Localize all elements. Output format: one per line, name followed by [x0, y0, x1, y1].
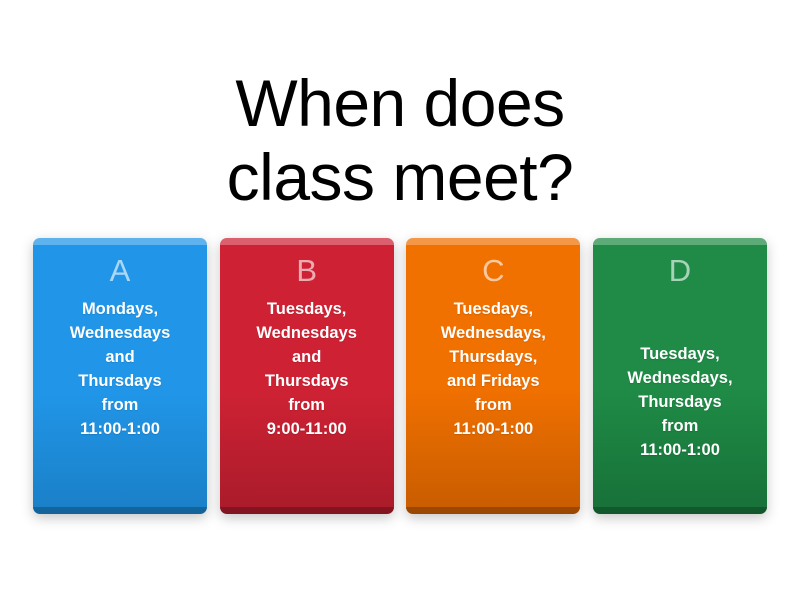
quiz-stage: When does class meet? A Mondays, Wednesd…: [0, 0, 800, 600]
answer-letter-c: C: [482, 253, 504, 289]
answer-card-d[interactable]: D Tuesdays, Wednesdays, Thursdays from 1…: [593, 238, 767, 514]
answer-letter-d: D: [669, 253, 691, 289]
answer-text-b: Tuesdays, Wednesdays and Thursdays from …: [256, 297, 357, 441]
answer-text-wrap-d: Tuesdays, Wednesdays, Thursdays from 11:…: [593, 289, 767, 514]
answer-letter-a: A: [110, 253, 131, 289]
answer-text-wrap-c: Tuesdays, Wednesdays, Thursdays, and Fri…: [406, 289, 580, 514]
answer-card-a[interactable]: A Mondays, Wednesdays and Thursdays from…: [33, 238, 207, 514]
page-title: When does class meet?: [0, 66, 800, 214]
answer-letter-b: B: [296, 253, 317, 289]
answer-text-c: Tuesdays, Wednesdays, Thursdays, and Fri…: [441, 297, 546, 441]
answer-text-a: Mondays, Wednesdays and Thursdays from 1…: [70, 297, 171, 441]
answer-text-wrap-b: Tuesdays, Wednesdays and Thursdays from …: [220, 289, 394, 514]
answer-card-b[interactable]: B Tuesdays, Wednesdays and Thursdays fro…: [220, 238, 394, 514]
answer-text-d: Tuesdays, Wednesdays, Thursdays from 11:…: [627, 342, 732, 462]
answer-text-wrap-a: Mondays, Wednesdays and Thursdays from 1…: [33, 289, 207, 514]
answer-options-row: A Mondays, Wednesdays and Thursdays from…: [33, 238, 767, 516]
answer-card-c[interactable]: C Tuesdays, Wednesdays, Thursdays, and F…: [406, 238, 580, 514]
